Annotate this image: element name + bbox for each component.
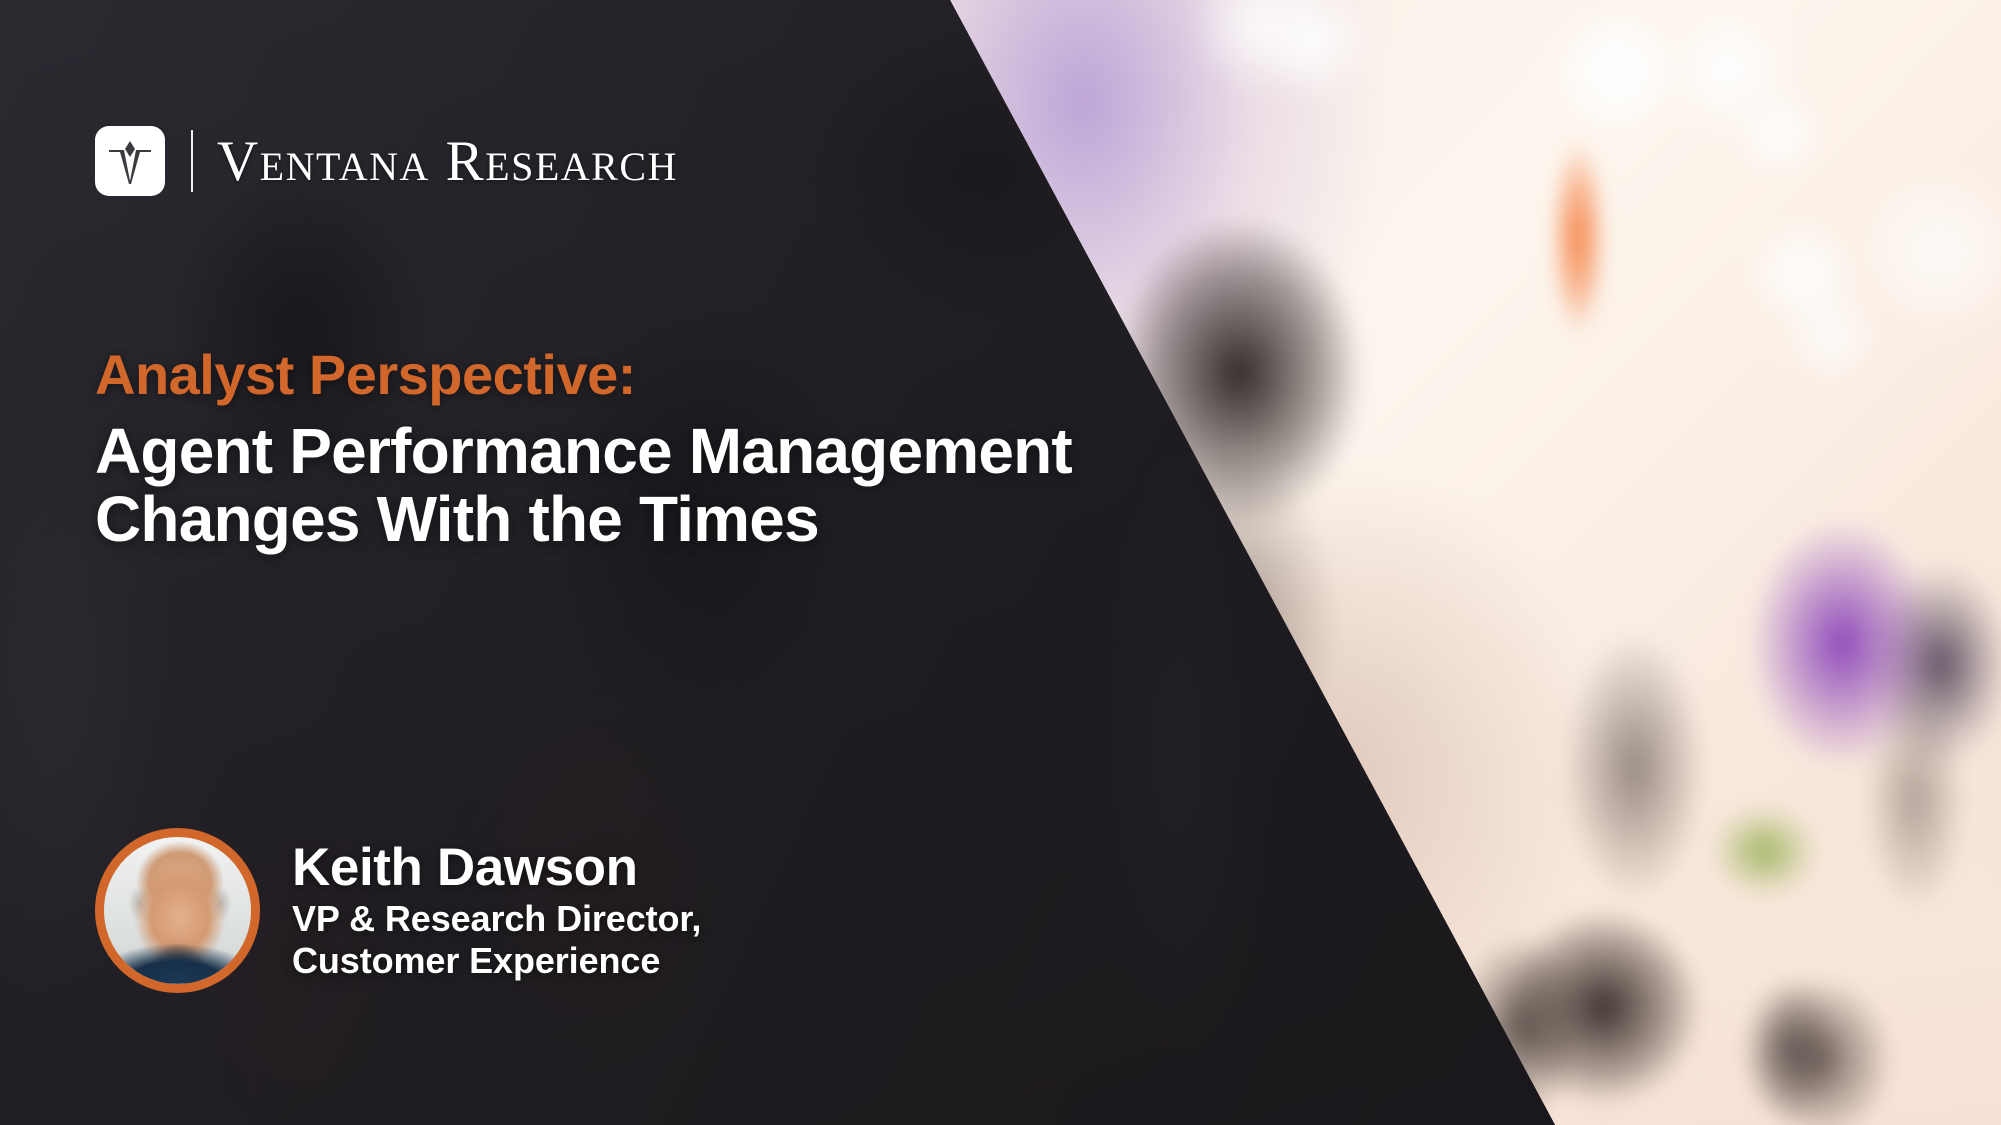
author-name: Keith Dawson: [292, 840, 701, 896]
author-text: Keith Dawson VP & Research Director, Cus…: [292, 840, 701, 981]
author-title: VP & Research Director, Customer Experie…: [292, 898, 701, 981]
brand-logo-lockup: Ventana Research: [95, 125, 678, 197]
logo-divider: [191, 130, 193, 192]
slide-content: Ventana Research Analyst Perspective: Ag…: [0, 0, 2001, 1125]
page-title: Agent Performance Management Changes Wit…: [95, 418, 1105, 554]
ventana-v-diamond-icon: [95, 126, 165, 196]
avatar: [95, 828, 260, 993]
slide-canvas: Ventana Research Analyst Perspective: Ag…: [0, 0, 2001, 1125]
author-block: Keith Dawson VP & Research Director, Cus…: [95, 828, 701, 993]
eyebrow-label: Analyst Perspective:: [95, 344, 636, 406]
avatar-photo: [104, 837, 251, 984]
brand-wordmark: Ventana Research: [217, 133, 678, 190]
